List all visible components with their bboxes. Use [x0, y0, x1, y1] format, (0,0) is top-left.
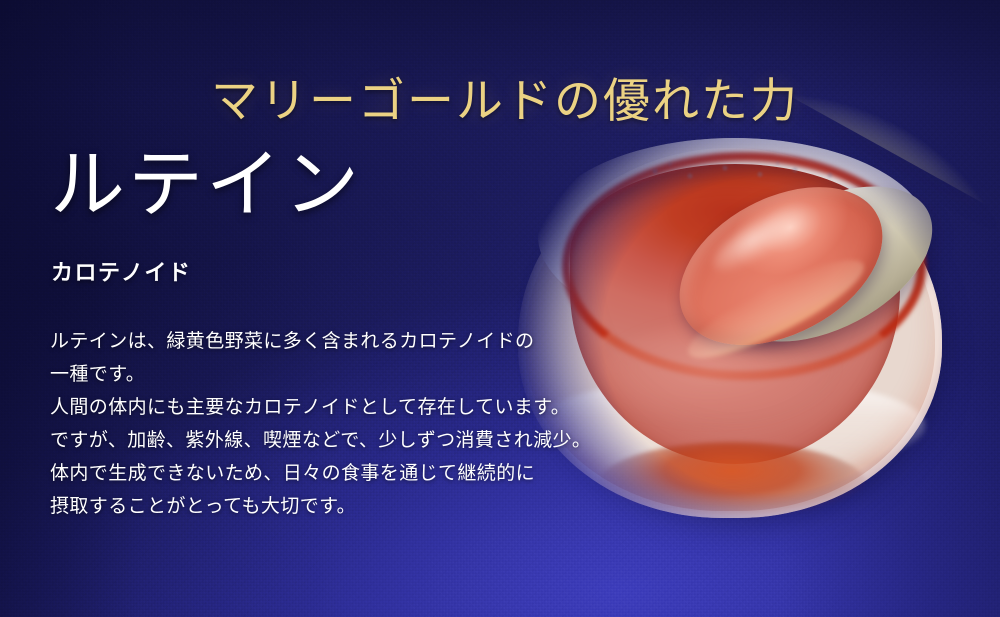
rim-speckle-texture	[620, 152, 870, 192]
body-copy: ルテインは、緑黄色野菜に多く含まれるカロテノイドの 一種です。 人間の体内にも主…	[50, 325, 570, 523]
body-line: ルテインは、緑黄色野菜に多く含まれるカロテノイドの	[50, 325, 570, 358]
promotional-banner: マリーゴールドの優れた力 ルテイン カロテノイド ルテインは、緑黄色野菜に多く含…	[0, 0, 1000, 617]
product-photo	[540, 120, 1000, 570]
body-line: 摂取することがとっても大切です。	[50, 490, 570, 523]
body-line: ですが、加齢、紫外線、喫煙などで、少しずつ消費され減少。	[50, 424, 570, 457]
headline: マリーゴールドの優れた力	[0, 62, 1000, 131]
photo-fade-mask	[500, 90, 1000, 580]
page-title: ルテイン	[50, 148, 362, 223]
body-line: 一種です。	[50, 358, 570, 391]
body-line: 人間の体内にも主要なカロテノイドとして存在しています。	[50, 391, 570, 424]
glass-bowl-base-glow	[596, 442, 868, 532]
subtitle-category: カロテノイド	[51, 255, 191, 287]
body-line: 体内で生成できないため、日々の食事を通じて継続的に	[50, 457, 570, 490]
